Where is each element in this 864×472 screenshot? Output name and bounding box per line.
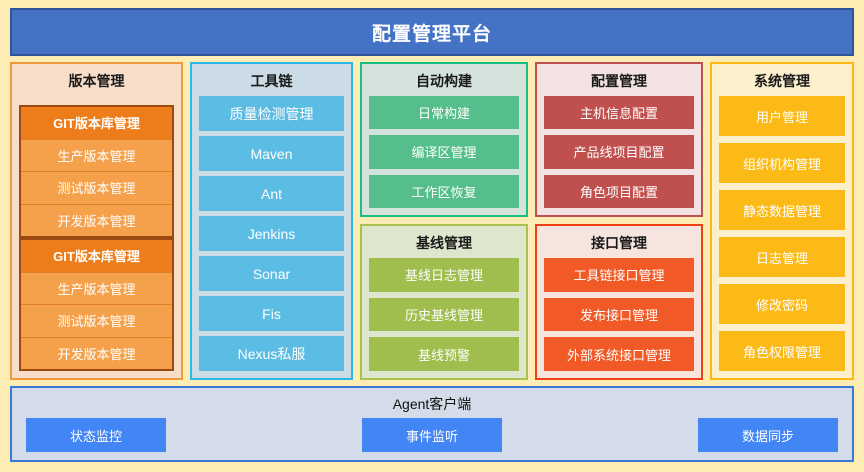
column-build-baseline: 自动构建 日常构建 编译区管理 工作区恢复 基线管理 基线日志管理 历史基线管理…	[360, 62, 528, 380]
item-jenkins[interactable]: Jenkins	[199, 216, 344, 251]
item-external-system-interface-management[interactable]: 外部系统接口管理	[544, 337, 694, 371]
page-title: 配置管理平台	[372, 19, 492, 46]
item-ant[interactable]: Ant	[199, 176, 344, 211]
item-maven[interactable]: Maven	[199, 136, 344, 171]
agent-button-event-listener[interactable]: 事件监听	[362, 418, 502, 452]
panel-title-system-management: 系统管理	[719, 68, 845, 96]
column-config-interface: 配置管理 主机信息配置 产品线项目配置 角色项目配置 接口管理 工具链接口管理 …	[535, 62, 703, 380]
panel-toolchain[interactable]: 工具链 质量检测管理 Maven Ant Jenkins Sonar Fis N…	[190, 62, 353, 380]
panel-interface-management[interactable]: 接口管理 工具链接口管理 发布接口管理 外部系统接口管理	[535, 224, 703, 380]
item-sonar[interactable]: Sonar	[199, 256, 344, 291]
item-dev-version-management-1[interactable]: 开发版本管理	[21, 204, 172, 237]
item-history-baseline-management[interactable]: 历史基线管理	[369, 298, 519, 332]
item-git-repo-management-1[interactable]: GIT版本库管理	[21, 107, 172, 139]
panel-baseline-management[interactable]: 基线管理 基线日志管理 历史基线管理 基线预警	[360, 224, 528, 380]
panel-title-toolchain: 工具链	[199, 68, 344, 96]
panel-config-management[interactable]: 配置管理 主机信息配置 产品线项目配置 角色项目配置	[535, 62, 703, 217]
item-log-management[interactable]: 日志管理	[719, 237, 845, 277]
panel-title-interface-management: 接口管理	[544, 230, 694, 258]
agent-buttons-row: 状态监控 事件监听 数据同步	[12, 418, 852, 460]
item-user-management[interactable]: 用户管理	[719, 96, 845, 136]
panel-auto-build[interactable]: 自动构建 日常构建 编译区管理 工作区恢复	[360, 62, 528, 217]
agent-button-status-monitor[interactable]: 状态监控	[26, 418, 166, 452]
item-role-project-config[interactable]: 角色项目配置	[544, 175, 694, 208]
diagram-root: 配置管理平台 版本管理 GIT版本库管理 生产版本管理 测试版本管理 开发版本管…	[0, 0, 864, 472]
column-toolchain: 工具链 质量检测管理 Maven Ant Jenkins Sonar Fis N…	[190, 62, 353, 380]
panel-system-management[interactable]: 系统管理 用户管理 组织机构管理 静态数据管理 日志管理 修改密码 角色权限管理	[710, 62, 854, 380]
item-product-line-project-config[interactable]: 产品线项目配置	[544, 135, 694, 168]
item-baseline-warning[interactable]: 基线预警	[369, 337, 519, 371]
item-test-version-management-2[interactable]: 测试版本管理	[21, 304, 172, 337]
panel-body-interface-management: 工具链接口管理 发布接口管理 外部系统接口管理	[544, 258, 694, 371]
panel-version-management[interactable]: 版本管理 GIT版本库管理 生产版本管理 测试版本管理 开发版本管理 GIT版本…	[10, 62, 183, 380]
agent-client-bar: Agent客户端 状态监控 事件监听 数据同步	[10, 386, 854, 462]
panel-body-toolchain: 质量检测管理 Maven Ant Jenkins Sonar Fis Nexus…	[199, 96, 344, 371]
version-group-1: GIT版本库管理 生产版本管理 测试版本管理 开发版本管理	[19, 105, 174, 238]
item-toolchain-interface-management[interactable]: 工具链接口管理	[544, 258, 694, 292]
version-group-2: GIT版本库管理 生产版本管理 测试版本管理 开发版本管理	[19, 238, 174, 371]
item-nexus-private-server[interactable]: Nexus私服	[199, 336, 344, 371]
platform-title-banner: 配置管理平台	[10, 8, 854, 56]
item-git-repo-management-2[interactable]: GIT版本库管理	[21, 240, 172, 272]
item-role-permission-management[interactable]: 角色权限管理	[719, 331, 845, 371]
item-host-info-config[interactable]: 主机信息配置	[544, 96, 694, 129]
item-organization-management[interactable]: 组织机构管理	[719, 143, 845, 183]
panel-title-baseline-management: 基线管理	[369, 230, 519, 258]
item-production-version-management-1[interactable]: 生产版本管理	[21, 139, 172, 172]
item-baseline-log-management[interactable]: 基线日志管理	[369, 258, 519, 292]
item-production-version-management-2[interactable]: 生产版本管理	[21, 272, 172, 305]
column-system: 系统管理 用户管理 组织机构管理 静态数据管理 日志管理 修改密码 角色权限管理	[710, 62, 854, 380]
panel-body-baseline-management: 基线日志管理 历史基线管理 基线预警	[369, 258, 519, 371]
column-version: 版本管理 GIT版本库管理 生产版本管理 测试版本管理 开发版本管理 GIT版本…	[10, 62, 183, 380]
item-workspace-restore[interactable]: 工作区恢复	[369, 175, 519, 208]
panel-body-config-management: 主机信息配置 产品线项目配置 角色项目配置	[544, 96, 694, 208]
item-fis[interactable]: Fis	[199, 296, 344, 331]
item-static-data-management[interactable]: 静态数据管理	[719, 190, 845, 230]
panel-body-auto-build: 日常构建 编译区管理 工作区恢复	[369, 96, 519, 208]
item-dev-version-management-2[interactable]: 开发版本管理	[21, 337, 172, 370]
agent-client-title: Agent客户端	[12, 388, 852, 418]
item-daily-build[interactable]: 日常构建	[369, 96, 519, 129]
item-release-interface-management[interactable]: 发布接口管理	[544, 298, 694, 332]
item-test-version-management-1[interactable]: 测试版本管理	[21, 171, 172, 204]
panel-body-system-management: 用户管理 组织机构管理 静态数据管理 日志管理 修改密码 角色权限管理	[719, 96, 845, 371]
item-quality-inspection-management[interactable]: 质量检测管理	[199, 96, 344, 131]
panel-title-config-management: 配置管理	[544, 68, 694, 96]
columns-container: 版本管理 GIT版本库管理 生产版本管理 测试版本管理 开发版本管理 GIT版本…	[10, 62, 854, 380]
panel-body-version-management: GIT版本库管理 生产版本管理 测试版本管理 开发版本管理 GIT版本库管理 生…	[19, 105, 174, 371]
agent-button-data-sync[interactable]: 数据同步	[698, 418, 838, 452]
item-change-password[interactable]: 修改密码	[719, 284, 845, 324]
panel-title-auto-build: 自动构建	[369, 68, 519, 96]
panel-title-version-management: 版本管理	[19, 68, 174, 96]
item-compile-area-management[interactable]: 编译区管理	[369, 135, 519, 168]
